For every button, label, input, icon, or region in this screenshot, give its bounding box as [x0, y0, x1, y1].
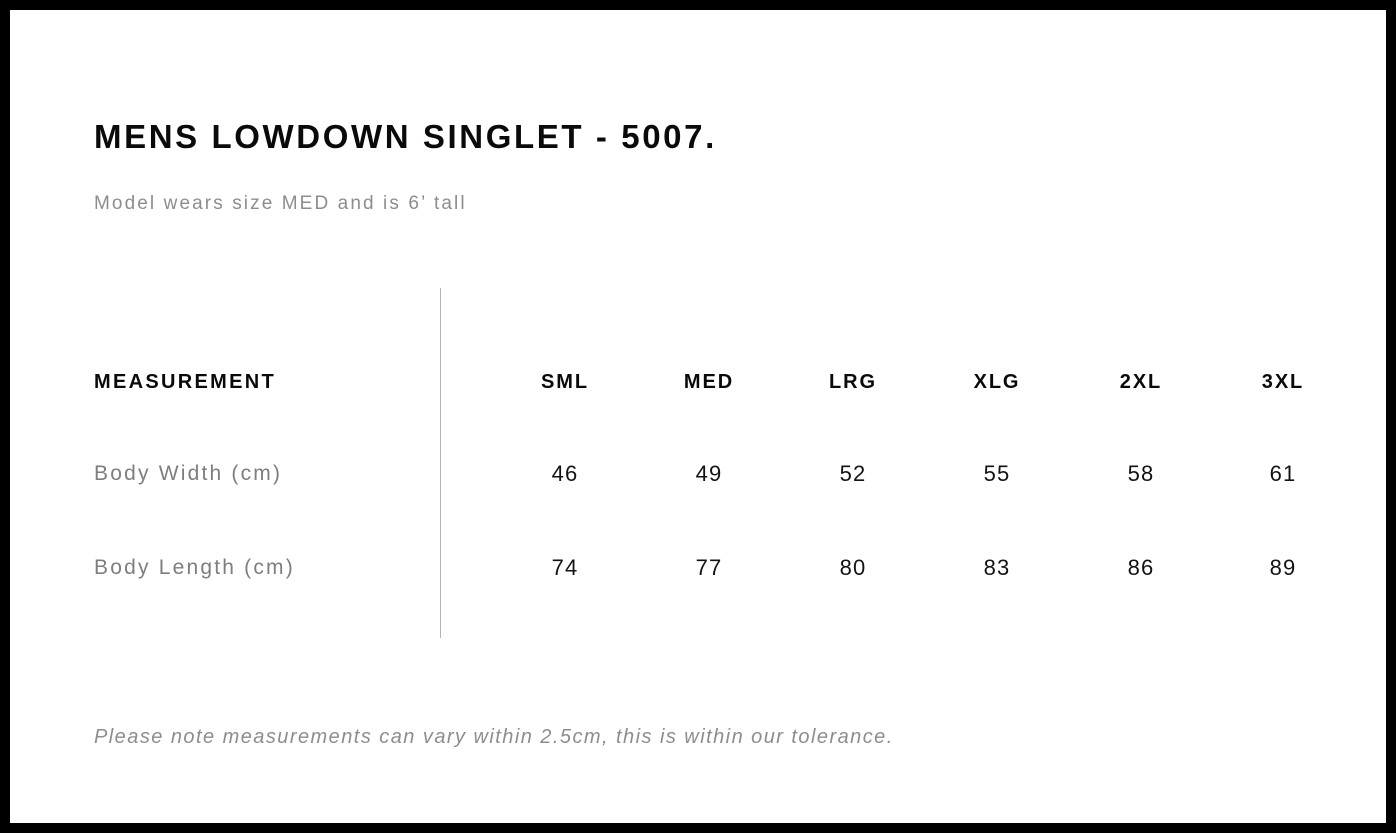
size-chart-card: MENS LOWDOWN SINGLET - 5007. Model wears…: [10, 10, 1386, 823]
cell-body-width-2xl: 58: [1081, 454, 1201, 494]
cell-body-length-sml: 74: [505, 548, 625, 588]
column-header-measurement: MEASUREMENT: [94, 362, 276, 402]
column-header-lrg: LRG: [793, 362, 913, 402]
cell-body-length-3xl: 89: [1223, 548, 1343, 588]
row-label-body-length: Body Length (cm): [94, 548, 295, 588]
column-header-3xl: 3XL: [1223, 362, 1343, 402]
cell-body-width-xlg: 55: [937, 454, 1057, 494]
cell-body-length-lrg: 80: [793, 548, 913, 588]
tolerance-footnote: Please note measurements can vary within…: [94, 726, 894, 749]
cell-body-length-2xl: 86: [1081, 548, 1201, 588]
cell-body-length-xlg: 83: [937, 548, 1057, 588]
column-header-2xl: 2XL: [1081, 362, 1201, 402]
table-header-row: MEASUREMENT SML MED LRG XLG 2XL 3XL: [10, 362, 1386, 402]
model-fit-note: Model wears size MED and is 6’ tall: [94, 193, 467, 215]
table-row: Body Width (cm) 46 49 52 55 58 61: [10, 454, 1386, 494]
cell-body-width-sml: 46: [505, 454, 625, 494]
cell-body-length-med: 77: [649, 548, 769, 588]
page-title: MENS LOWDOWN SINGLET - 5007.: [94, 118, 717, 156]
column-header-sml: SML: [505, 362, 625, 402]
cell-body-width-3xl: 61: [1223, 454, 1343, 494]
column-header-xlg: XLG: [937, 362, 1057, 402]
cell-body-width-med: 49: [649, 454, 769, 494]
cell-body-width-lrg: 52: [793, 454, 913, 494]
row-label-body-width: Body Width (cm): [94, 454, 282, 494]
column-header-med: MED: [649, 362, 769, 402]
table-row: Body Length (cm) 74 77 80 83 86 89: [10, 548, 1386, 588]
